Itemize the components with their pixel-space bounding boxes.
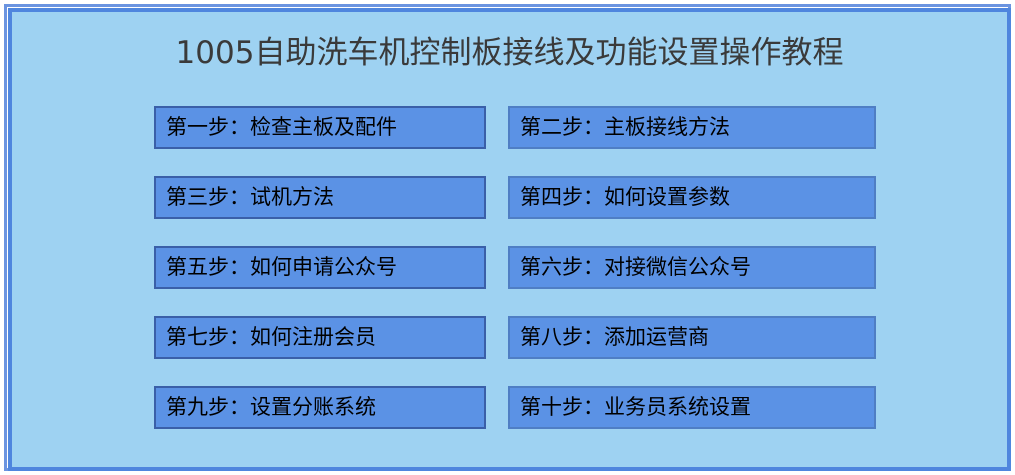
- inner-border-frame: 1005自助洗车机控制板接线及功能设置操作教程 第一步：检查主板及配件 第二步：…: [8, 8, 1011, 471]
- step-cell-5: 第五步：如何申请公众号: [154, 246, 486, 316]
- step-cell-7: 第七步：如何注册会员: [154, 316, 486, 386]
- step-row-3: 第五步：如何申请公众号 第六步：对接微信公众号: [154, 246, 884, 316]
- step-button-9[interactable]: 第九步：设置分账系统: [154, 386, 486, 429]
- step-button-7[interactable]: 第七步：如何注册会员: [154, 316, 486, 359]
- step-button-6[interactable]: 第六步：对接微信公众号: [508, 246, 876, 289]
- step-cell-2: 第二步：主板接线方法: [508, 106, 840, 176]
- step-button-grid: 第一步：检查主板及配件 第二步：主板接线方法 第三步：试机方法 第四步: [154, 106, 884, 456]
- step-cell-9: 第九步：设置分账系统: [154, 386, 486, 456]
- step-button-8[interactable]: 第八步：添加运营商: [508, 316, 876, 359]
- step-cell-8: 第八步：添加运营商: [508, 316, 840, 386]
- step-button-10[interactable]: 第十步：业务员系统设置: [508, 386, 876, 429]
- step-button-3[interactable]: 第三步：试机方法: [154, 176, 486, 219]
- step-button-1[interactable]: 第一步：检查主板及配件: [154, 106, 486, 149]
- step-cell-1: 第一步：检查主板及配件: [154, 106, 486, 176]
- page-title: 1005自助洗车机控制板接线及功能设置操作教程: [12, 33, 1007, 73]
- step-cell-10: 第十步：业务员系统设置: [508, 386, 840, 456]
- step-button-4[interactable]: 第四步：如何设置参数: [508, 176, 876, 219]
- step-row-4: 第七步：如何注册会员 第八步：添加运营商: [154, 316, 884, 386]
- outer-border-frame: 1005自助洗车机控制板接线及功能设置操作教程 第一步：检查主板及配件 第二步：…: [4, 4, 1011, 471]
- step-row-5: 第九步：设置分账系统 第十步：业务员系统设置: [154, 386, 884, 456]
- step-cell-6: 第六步：对接微信公众号: [508, 246, 840, 316]
- step-button-2[interactable]: 第二步：主板接线方法: [508, 106, 876, 149]
- step-cell-3: 第三步：试机方法: [154, 176, 486, 246]
- step-button-5[interactable]: 第五步：如何申请公众号: [154, 246, 486, 289]
- step-row-1: 第一步：检查主板及配件 第二步：主板接线方法: [154, 106, 884, 176]
- step-row-2: 第三步：试机方法 第四步：如何设置参数: [154, 176, 884, 246]
- frame-gutter: 1005自助洗车机控制板接线及功能设置操作教程 第一步：检查主板及配件 第二步：…: [8, 8, 1007, 467]
- poster-root: 1005自助洗车机控制板接线及功能设置操作教程 第一步：检查主板及配件 第二步：…: [0, 0, 1015, 475]
- poster-canvas: 1005自助洗车机控制板接线及功能设置操作教程 第一步：检查主板及配件 第二步：…: [12, 12, 1007, 467]
- step-cell-4: 第四步：如何设置参数: [508, 176, 840, 246]
